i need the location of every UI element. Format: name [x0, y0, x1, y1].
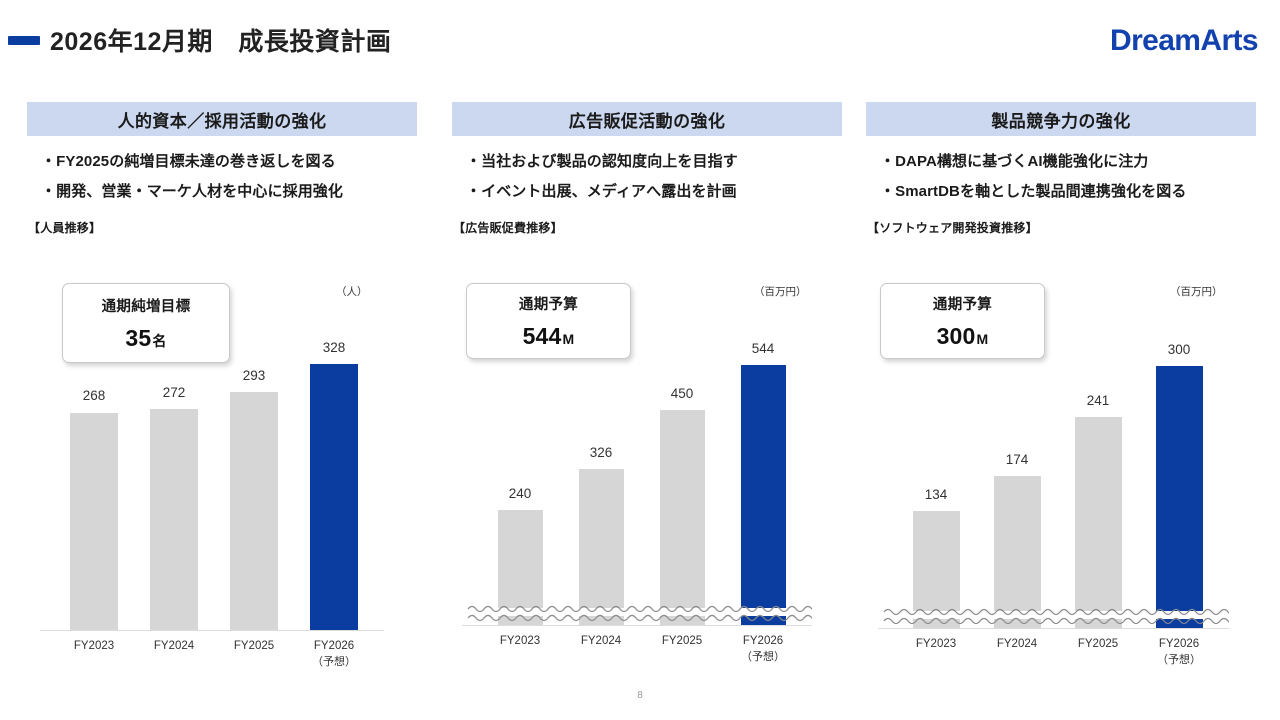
section-label: 【広告販促費推移】: [452, 219, 842, 236]
x-axis-label: FY2026（予想）: [289, 638, 379, 671]
x-axis-label: FY2026（予想）: [718, 633, 808, 666]
bar: [660, 410, 705, 625]
x-axis-label: FY2023: [891, 636, 981, 653]
section-label: 【ソフトウェア開発投資推移】: [866, 219, 1256, 236]
bullet-list: ・当社および製品の認知度向上を目指す ・イベント出展、メディアへ露出を計画: [452, 154, 842, 199]
column-header-band: 広告販促活動の強化: [452, 102, 842, 136]
list-item: ・FY2025の純増目標未達の巻き返しを図る: [41, 154, 417, 169]
x-axis-label: FY2025: [1053, 636, 1143, 653]
x-axis-label-note: （予想）: [1134, 653, 1224, 669]
chart-unit-label: （百万円）: [1170, 284, 1223, 299]
bar-value-label: 240: [480, 486, 560, 501]
column-heading: 広告販促活動の強化: [569, 107, 726, 132]
bar: [150, 409, 198, 630]
bullet-list: ・DAPA構想に基づくAI機能強化に注力 ・SmartDBを軸とした製品間連携強…: [866, 154, 1256, 199]
title-accent-bar: [8, 36, 40, 45]
x-axis-label: FY2025: [209, 638, 299, 655]
column-header-band: 製品競争力の強化: [866, 102, 1256, 136]
list-item: ・SmartDBを軸とした製品間連携強化を図る: [880, 184, 1256, 199]
bar-value-label: 544: [723, 341, 803, 356]
bar-value-label: 293: [214, 368, 294, 383]
slide-header: 2026年12月期 成長投資計画 DreamArts: [0, 0, 1280, 78]
chart-headcount-trend: （人）268FY2023272FY2024293FY2025328FY2026（…: [40, 280, 420, 680]
bar-value-label: 328: [294, 340, 374, 355]
bar: [913, 511, 960, 628]
column-heading: 製品競争力の強化: [991, 107, 1130, 132]
chart-unit-label: （百万円）: [754, 284, 807, 299]
bar-value-label: 300: [1139, 342, 1219, 357]
x-axis-label-note: （予想）: [718, 650, 808, 666]
bar: [579, 469, 624, 625]
chart-ad-expense-trend: （百万円）240FY2023326FY2024450FY2025544FY202…: [462, 280, 832, 680]
chart-unit-label: （人）: [336, 284, 368, 299]
x-axis-label: FY2026（予想）: [1134, 636, 1224, 669]
bar-value-label: 272: [134, 385, 214, 400]
list-item: ・イベント出展、メディアへ露出を計画: [466, 184, 842, 199]
x-axis-label: FY2023: [49, 638, 139, 655]
x-axis-label: FY2025: [637, 633, 727, 650]
bar-value-label: 134: [896, 487, 976, 502]
column-heading: 人的資本／採用活動の強化: [118, 107, 327, 132]
page-title: 2026年12月期 成長投資計画: [50, 22, 391, 58]
section-label: 【人員推移】: [27, 219, 417, 236]
bar-value-label: 326: [561, 445, 641, 460]
page-number: 8: [0, 690, 1280, 701]
x-axis-label-note: （予想）: [289, 655, 379, 671]
x-axis-label: FY2024: [129, 638, 219, 655]
bar-forecast: [310, 364, 358, 630]
x-axis-label: FY2024: [556, 633, 646, 650]
bar: [1075, 417, 1122, 628]
bar: [70, 413, 118, 631]
dreamarts-logo: DreamArts: [1110, 24, 1258, 58]
list-item: ・DAPA構想に基づくAI機能強化に注力: [880, 154, 1256, 169]
bar-forecast: [1156, 366, 1203, 628]
bar-value-label: 241: [1058, 393, 1138, 408]
bar-value-label: 174: [977, 452, 1057, 467]
bar-value-label: 268: [54, 388, 134, 403]
chart-axis-line: [40, 630, 384, 631]
list-item: ・当社および製品の認知度向上を目指す: [466, 154, 842, 169]
chart-axis-line: [462, 625, 812, 626]
bullet-list: ・FY2025の純増目標未達の巻き返しを図る ・開発、営業・マーケ人材を中心に採…: [27, 154, 417, 199]
chart-software-investment-trend: （百万円）134FY2023174FY2024241FY2025300FY202…: [878, 280, 1248, 680]
bar-value-label: 450: [642, 386, 722, 401]
x-axis-label: FY2024: [972, 636, 1062, 653]
chart-axis-line: [878, 628, 1229, 629]
bar: [498, 510, 543, 625]
column-header-band: 人的資本／採用活動の強化: [27, 102, 417, 136]
x-axis-label: FY2023: [475, 633, 565, 650]
bar: [994, 476, 1041, 628]
bar: [230, 392, 278, 630]
list-item: ・開発、営業・マーケ人材を中心に採用強化: [41, 184, 417, 199]
bar-forecast: [741, 365, 786, 625]
